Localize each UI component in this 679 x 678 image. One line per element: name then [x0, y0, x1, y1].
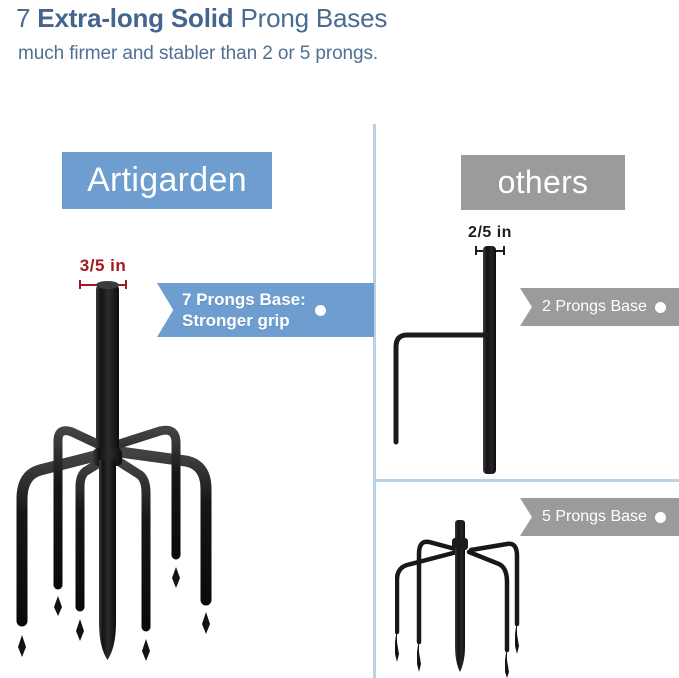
- callout-ribbon-2-prong: 2 Prongs Base: [520, 288, 679, 326]
- product-image-5-prong: [395, 520, 610, 678]
- ribbon-bullet-dot: [655, 302, 666, 313]
- infographic-canvas: 7 Extra-long Solid Prong Bases much firm…: [0, 0, 679, 678]
- ribbon-text-7-prong: 7 Prongs Base: Stronger grip: [182, 289, 306, 331]
- ribbon-text-5-prong: 5 Prongs Base: [542, 507, 647, 527]
- brand-label-artigarden: Artigarden: [62, 152, 272, 209]
- brand-label-others: others: [461, 155, 625, 210]
- title-suffix: Prong Bases: [233, 3, 387, 33]
- ribbon-bullet-dot: [655, 512, 666, 523]
- ribbon-line-2: Stronger grip: [182, 311, 290, 330]
- page-title: 7 Extra-long Solid Prong Bases: [16, 2, 387, 34]
- ribbon-text-2-prong: 2 Prongs Base: [542, 297, 647, 317]
- callout-ribbon-7-prong: 7 Prongs Base: Stronger grip: [157, 283, 374, 337]
- title-prefix: 7: [16, 3, 37, 33]
- product-image-2-prong: [385, 240, 545, 480]
- ribbon-bullet-dot: [315, 305, 326, 316]
- others-label-text: others: [498, 164, 589, 201]
- callout-ribbon-5-prong: 5 Prongs Base: [520, 498, 679, 536]
- title-emphasis: Extra-long Solid: [37, 3, 233, 33]
- vertical-divider: [373, 124, 376, 678]
- brand-label-text: Artigarden: [87, 161, 247, 200]
- ribbon-line-1: 7 Prongs Base:: [182, 290, 306, 309]
- page-subtitle: much firmer and stabler than 2 or 5 pron…: [18, 41, 378, 67]
